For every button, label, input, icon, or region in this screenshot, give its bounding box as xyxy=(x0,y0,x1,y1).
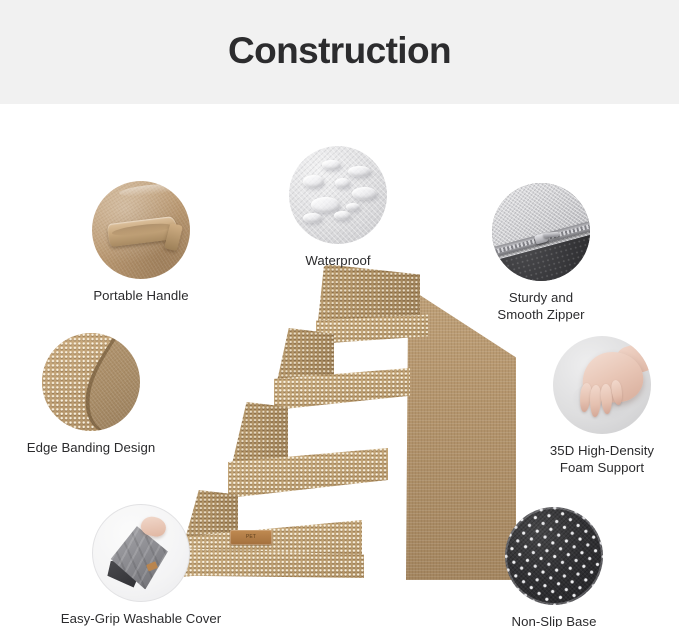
feature-waterproof[interactable]: Waterproof xyxy=(243,146,433,270)
feature-edge-banding-design[interactable]: Edge Banding Design xyxy=(0,333,186,457)
washable-cover-icon xyxy=(92,504,190,602)
brand-tag-text: PET xyxy=(230,530,272,545)
infographic-page: Construction PET xyxy=(0,0,679,627)
waterproof-icon xyxy=(289,146,387,244)
feature-label: Portable Handle xyxy=(46,288,236,305)
page-title: Construction xyxy=(0,30,679,72)
feature-easy-grip-washable-cover[interactable]: Easy-Grip Washable Cover xyxy=(46,504,236,627)
feature-label: Edge Banding Design xyxy=(0,440,186,457)
step-3-riser xyxy=(232,402,288,464)
grip-dot-pattern xyxy=(505,507,603,605)
feature-label: Non-Slip Base xyxy=(459,614,649,627)
water-droplet xyxy=(335,178,350,188)
feature-portable-handle[interactable]: Portable Handle xyxy=(46,181,236,305)
edge-banding-icon xyxy=(42,333,140,431)
portable-handle-icon xyxy=(92,181,190,279)
feature-non-slip-base[interactable]: Non-Slip Base xyxy=(459,507,649,627)
feature-label: Sturdy and Smooth Zipper xyxy=(446,290,636,324)
water-droplet xyxy=(311,197,340,213)
brand-tag: PET xyxy=(230,530,272,545)
feature-label: Easy-Grip Washable Cover xyxy=(46,611,236,627)
zipper-icon xyxy=(492,183,590,281)
feature-foam-support[interactable]: 35D High-Density Foam Support xyxy=(507,336,679,477)
feature-sturdy-smooth-zipper[interactable]: Sturdy and Smooth Zipper xyxy=(446,183,636,324)
feature-label: Waterproof xyxy=(243,253,433,270)
non-slip-base-icon xyxy=(505,507,603,605)
feature-label: 35D High-Density Foam Support xyxy=(507,443,679,477)
water-droplet xyxy=(352,187,377,200)
foam-support-icon xyxy=(553,336,651,434)
water-droplet xyxy=(346,203,360,211)
